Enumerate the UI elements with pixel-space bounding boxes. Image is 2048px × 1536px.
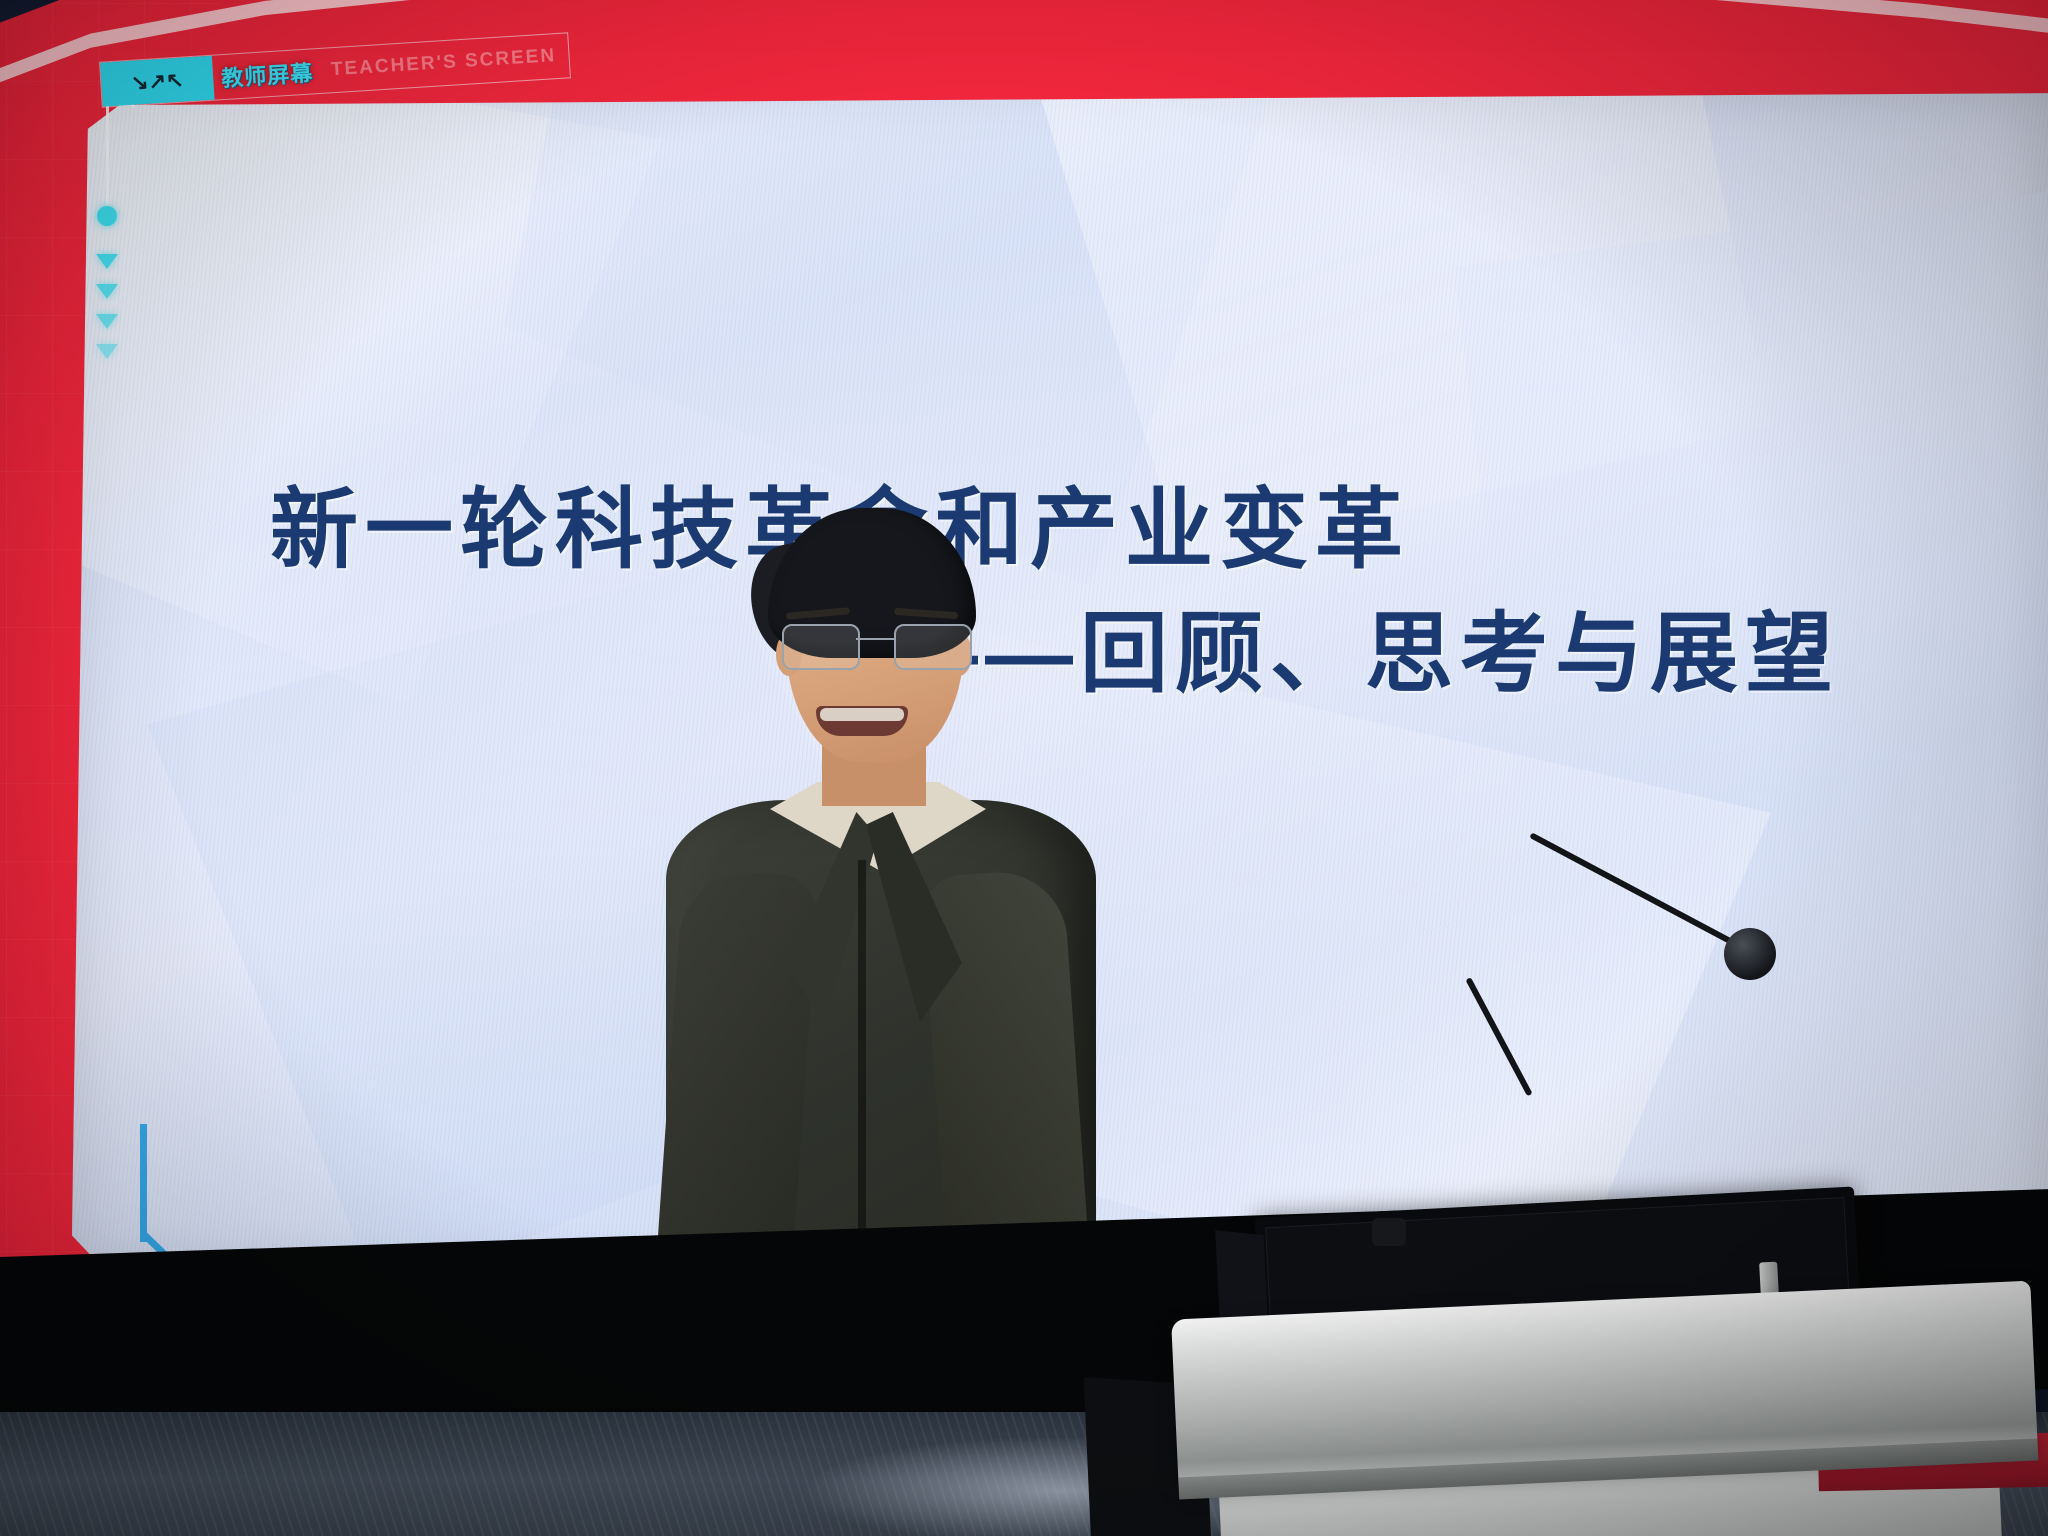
presenter-teeth [820,708,904,721]
glasses-bridge [856,638,894,640]
badge-label-cn: 教师屏幕 [212,49,323,100]
glasses-icon [778,624,974,668]
hud-node-dot-icon [97,206,117,226]
microphone-icon [1724,928,1776,980]
chevron-down-icon [96,344,118,359]
chevron-down-icon [96,314,118,329]
hud-vertical-line [106,102,109,212]
glasses-lens-right [894,624,972,670]
badge-arrow-group: ↘↗↖ [100,56,215,107]
presenter-mouth [816,706,908,736]
lectern [1171,1281,2041,1536]
glasses-lens-left [782,624,860,670]
chevron-down-icon [96,254,118,269]
stage-scene: 新一轮科技革命和产业变革 ——回顾、思考与展望 ↘↗↖ 教师屏幕 TEACHER… [0,0,2048,1536]
arrows-icon: ↘↗↖ [130,69,184,93]
chevron-down-icon [96,284,118,299]
microphone-base [1372,1218,1406,1246]
